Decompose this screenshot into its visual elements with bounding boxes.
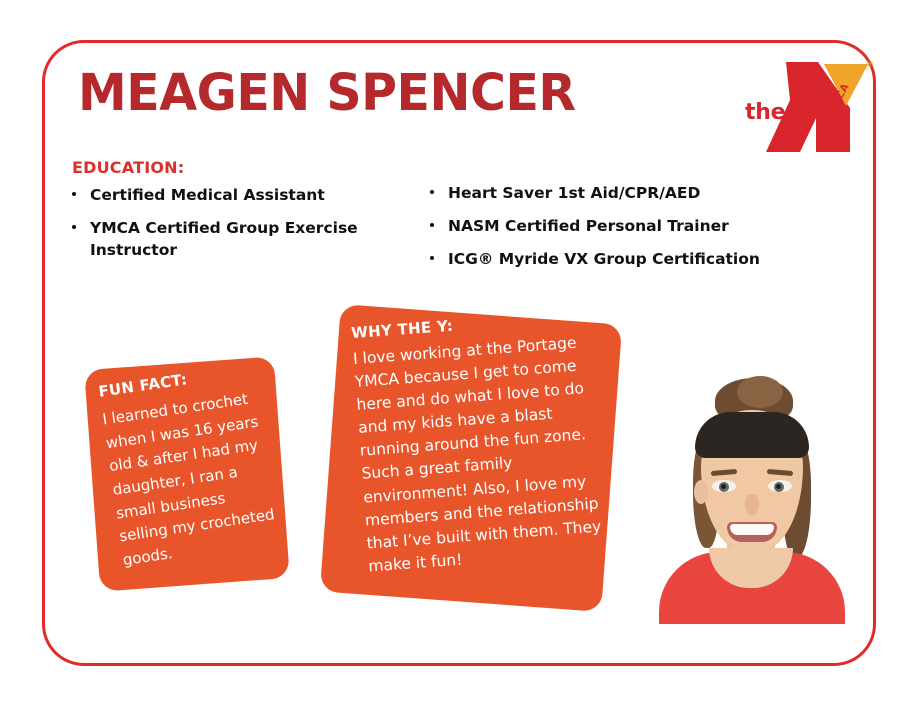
credential-label: Heart Saver 1st Aid/CPR/AED <box>448 184 700 202</box>
staff-headshot-photo <box>653 376 849 624</box>
education-right-column: Heart Saver 1st Aid/CPR/AED NASM Certifi… <box>424 182 784 281</box>
bullet-icon <box>430 190 434 194</box>
headband <box>695 412 809 458</box>
credential-label: NASM Certified Personal Trainer <box>448 217 729 235</box>
pupil-right <box>776 484 781 489</box>
education-heading: EDUCATION: <box>72 158 184 177</box>
bullet-icon <box>72 225 76 229</box>
bullet-icon <box>72 192 76 196</box>
mouth <box>727 522 777 542</box>
ymca-y-icon <box>742 56 874 156</box>
fun-fact-body: I learned to crochet when I was 16 years… <box>101 386 283 573</box>
ear <box>694 480 708 504</box>
pupil-left <box>721 484 726 489</box>
list-item: Certified Medical Assistant <box>66 184 386 206</box>
ymca-logo: the ® YMCA <box>742 56 874 156</box>
list-item: ICG® Myride VX Group Certification <box>424 248 784 270</box>
page-title: MEAGEN SPENCER <box>78 66 576 122</box>
list-item: YMCA Certified Group Exercise Instructor <box>66 217 386 261</box>
nose <box>745 494 759 516</box>
bullet-icon <box>430 223 434 227</box>
teeth <box>730 524 774 535</box>
bullet-icon <box>430 256 434 260</box>
credential-label: YMCA Certified Group Exercise Instructor <box>90 219 358 259</box>
hair-bun-highlight <box>737 376 783 408</box>
education-left-column: Certified Medical Assistant YMCA Certifi… <box>66 184 386 272</box>
registered-trademark-icon: ® <box>865 60 874 70</box>
credential-label: ICG® Myride VX Group Certification <box>448 250 760 268</box>
fun-fact-card: FUN FACT: I learned to crochet when I wa… <box>84 356 290 591</box>
why-the-y-body: I love working at the Portage YMCA becau… <box>352 330 616 578</box>
list-item: Heart Saver 1st Aid/CPR/AED <box>424 182 784 204</box>
list-item: NASM Certified Personal Trainer <box>424 215 784 237</box>
why-the-y-card: WHY THE Y: I love working at the Portage… <box>320 304 622 612</box>
credential-label: Certified Medical Assistant <box>90 186 325 204</box>
